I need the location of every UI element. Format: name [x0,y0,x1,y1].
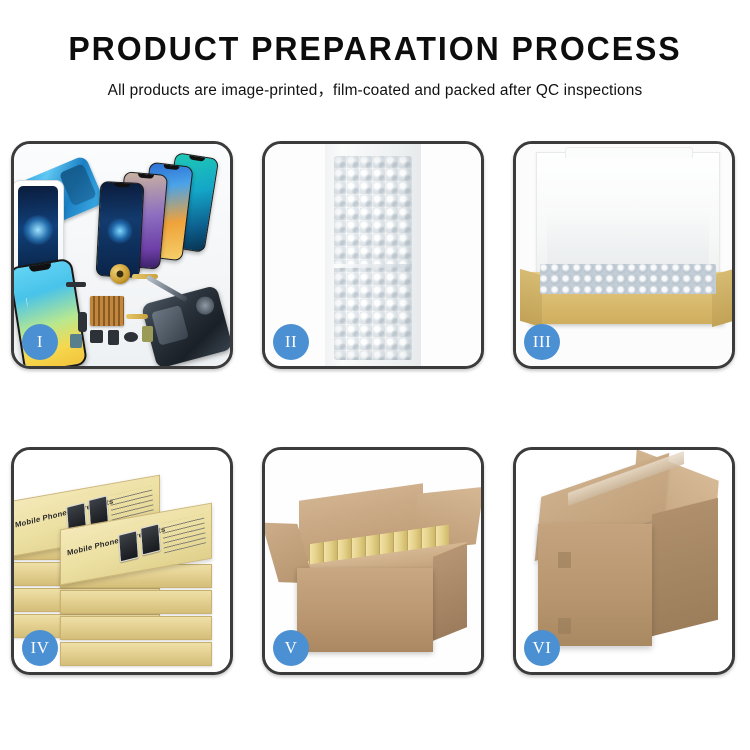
spare-parts-group [76,268,186,364]
stacked-box-icon [60,590,212,614]
stacked-box-icon [60,642,212,666]
box-spec-lines [162,514,206,554]
carton-seal-tab [558,618,571,634]
small-part-icon [90,330,103,343]
carton-right-face [652,498,718,636]
carton-front-panel [297,568,433,652]
bubble-wrap-sleeve [325,144,421,366]
step-panel-4: Mobile Phone Spare Parts Mobile Phone Sp… [11,447,233,675]
header: PRODUCT PREPARATION PROCESS All products… [0,0,750,100]
small-part-icon [142,326,153,342]
step-panel-2: II [262,141,484,369]
page-subtitle: All products are image-printed，film-coat… [0,78,750,100]
step-badge-3: III [524,324,560,360]
step-badge-6: VI [524,630,560,666]
step-panel-6: VI [513,447,735,675]
carton-front-face [538,524,652,646]
product-preparation-infographic: PRODUCT PREPARATION PROCESS All products… [0,0,750,750]
page-title: PRODUCT PREPARATION PROCESS [11,32,739,65]
bubble-wrapped-contents-icon [540,264,716,294]
process-steps-grid: I II III [11,141,739,675]
small-part-icon [108,330,119,345]
circuit-chip-icon [90,296,124,326]
carton-seal-tab [558,552,571,568]
bubble-wrap-fold [334,264,412,268]
step-panel-1: I [11,141,233,369]
small-part-icon [124,332,138,342]
copper-coil-icon [110,264,130,284]
phone-print-icon [118,530,139,562]
phone-lineup-group [84,152,230,277]
small-part-icon [66,282,86,287]
step-panel-3: III [513,141,735,369]
bubble-wrap-icon [334,156,412,360]
screwdriver-icon [146,275,188,302]
carton-side-panel [433,543,467,641]
step-badge-5: V [273,630,309,666]
step-badge-4: IV [22,630,58,666]
flex-cable-icon [126,314,148,319]
small-part-icon [78,312,87,332]
stacked-box-icon [60,616,212,640]
phone-print-icon [140,523,161,555]
step-badge-1: I [22,324,58,360]
step-panel-5: V [262,447,484,675]
step-badge-2: II [273,324,309,360]
small-part-icon [70,334,82,348]
